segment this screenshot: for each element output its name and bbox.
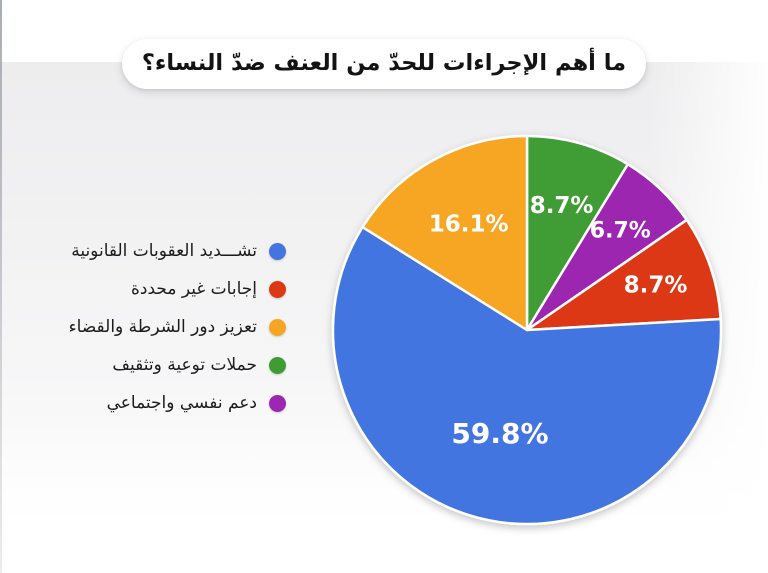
chart-canvas: ما أهم الإجراءات للحدّ من العنف ضدّ النس… [0,0,768,573]
legend-label-4: دعم نفسي واجتماعي [107,395,257,412]
pie-slice-value-label: 8.7% [624,273,688,299]
legend-dot-orange [269,319,286,336]
chart-title-pill: ما أهم الإجراءات للحدّ من العنف ضدّ النس… [122,39,646,89]
legend-label-0: تشـــديد العقوبات القانونية [71,243,257,260]
page-title: ما أهم الإجراءات للحدّ من العنف ضدّ النس… [142,52,626,77]
pie-slice-value-label: 16.1% [429,211,509,237]
legend-item-4[interactable]: دعم نفسي واجتماعي [18,384,286,422]
pie-slice-value-label: 8.7% [530,193,594,219]
pie-slice-value-label: 59.8% [451,417,548,450]
legend-item-2[interactable]: تعزيز دور الشرطة والقضاء [18,308,286,346]
legend-item-0[interactable]: تشـــديد العقوبات القانونية [18,232,286,270]
legend-dot-purple [269,395,286,412]
legend-label-2: تعزيز دور الشرطة والقضاء [69,319,257,336]
legend-dot-blue [269,243,286,260]
legend-label-3: حملات توعية وتثقيف [112,357,257,374]
legend-label-1: إجابات غير محددة [131,281,257,298]
pie-slice-value-label: 6.7% [590,218,651,243]
legend-item-3[interactable]: حملات توعية وتثقيف [18,346,286,384]
legend-item-1[interactable]: إجابات غير محددة [18,270,286,308]
pie-chart: 8.7%6.7%8.7%59.8%16.1% [325,128,729,532]
left-edge-rule [0,0,2,573]
legend-dot-green [269,357,286,374]
pie-chart-svg: 8.7%6.7%8.7%59.8%16.1% [325,128,729,532]
legend-dot-red [269,281,286,298]
pie-slice-group [333,136,721,524]
chart-legend: تشـــديد العقوبات القانونية إجابات غير م… [18,232,286,422]
